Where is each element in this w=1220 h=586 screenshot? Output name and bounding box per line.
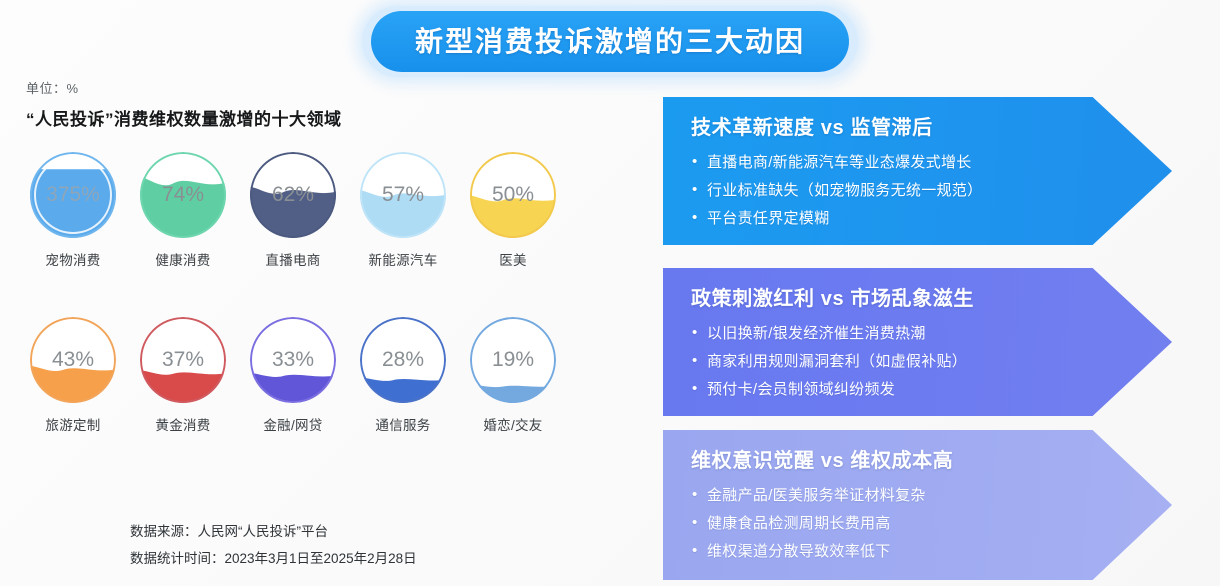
- gauge-value: 57%: [360, 152, 446, 238]
- gauge-value: 37%: [140, 317, 226, 403]
- gauge-label: 通信服务: [375, 414, 430, 434]
- gauge-label: 金融/网贷: [263, 414, 322, 434]
- driver-list: 金融产品/医美服务举证材料复杂健康食品检测周期长费用高维权渠道分散导致效率低下: [691, 482, 1172, 566]
- circle-row: 43%旅游定制37%黄金消费33%金融/网贷28%通信服务19%婚恋/交友: [18, 317, 598, 434]
- title-banner: 新型消费投诉激增的三大动因: [0, 6, 1220, 77]
- water-gauge: 33%: [250, 317, 336, 403]
- circle-cell-金融/网贷: 33%金融/网贷: [238, 317, 348, 434]
- source-note: 数据来源：人民网“人民投诉”平台 数据统计时间：2023年3月1日至2025年2…: [130, 518, 417, 572]
- gauge-label: 婚恋/交友: [483, 414, 542, 434]
- gauge-label: 新能源汽车: [369, 249, 438, 269]
- driver-bullet: 商家利用规则漏洞套利（如虚假补贴）: [691, 348, 1172, 376]
- gauge-label: 直播电商: [265, 249, 320, 269]
- driver-list: 直播电商/新能源汽车等业态爆发式增长行业标准缺失（如宠物服务无统一规范）平台责任…: [691, 149, 1172, 233]
- driver-arrow-1: 技术革新速度 vs 监管滞后直播电商/新能源汽车等业态爆发式增长行业标准缺失（如…: [663, 97, 1172, 245]
- gauge-label: 医美: [499, 249, 527, 269]
- driver-bullet: 以旧换新/银发经济催生消费热潮: [691, 320, 1172, 348]
- circle-chart: 375%宠物消费74%健康消费62%直播电商57%新能源汽车50%医美43%旅游…: [18, 152, 598, 434]
- gauge-value: 74%: [140, 152, 226, 238]
- gauge-value: 50%: [470, 152, 556, 238]
- driver-bullet: 健康食品检测周期长费用高: [691, 510, 1172, 538]
- circle-cell-直播电商: 62%直播电商: [238, 152, 348, 269]
- driver-bullet: 金融产品/医美服务举证材料复杂: [691, 482, 1172, 510]
- gauge-value: 19%: [470, 317, 556, 403]
- circle-cell-医美: 50%医美: [458, 152, 568, 269]
- left-section-heading: “人民投诉”消费维权数量激增的十大领域: [26, 105, 342, 130]
- water-gauge: 50%: [470, 152, 556, 238]
- gauge-label: 健康消费: [155, 249, 210, 269]
- driver-bullet: 直播电商/新能源汽车等业态爆发式增长: [691, 149, 1172, 177]
- gauge-label: 黄金消费: [155, 414, 210, 434]
- gauge-label: 旅游定制: [45, 414, 100, 434]
- page-title: 新型消费投诉激增的三大动因: [371, 11, 849, 72]
- gauge-value: 62%: [250, 152, 336, 238]
- circle-cell-婚恋/交友: 19%婚恋/交友: [458, 317, 568, 434]
- circle-cell-黄金消费: 37%黄金消费: [128, 317, 238, 434]
- water-gauge: 43%: [30, 317, 116, 403]
- water-gauge: 28%: [360, 317, 446, 403]
- source-line-2: 数据统计时间：2023年3月1日至2025年2月28日: [130, 545, 417, 572]
- driver-arrow-2: 政策刺激红利 vs 市场乱象滋生以旧换新/银发经济催生消费热潮商家利用规则漏洞套…: [663, 268, 1172, 416]
- source-line-1: 数据来源：人民网“人民投诉”平台: [130, 518, 417, 545]
- driver-bullet: 行业标准缺失（如宠物服务无统一规范）: [691, 177, 1172, 205]
- circle-cell-宠物消费: 375%宠物消费: [18, 152, 128, 269]
- circle-cell-通信服务: 28%通信服务: [348, 317, 458, 434]
- driver-arrow-3: 维权意识觉醒 vs 维权成本高金融产品/医美服务举证材料复杂健康食品检测周期长费…: [663, 430, 1172, 580]
- gauge-value: 375%: [30, 152, 116, 238]
- title-glow: 新型消费投诉激增的三大动因: [362, 6, 858, 77]
- gauge-value: 33%: [250, 317, 336, 403]
- water-gauge: 57%: [360, 152, 446, 238]
- water-gauge: 375%: [30, 152, 116, 238]
- water-gauge: 37%: [140, 317, 226, 403]
- driver-heading: 政策刺激红利 vs 市场乱象滋生: [691, 282, 1172, 311]
- driver-bullet: 维权渠道分散导致效率低下: [691, 538, 1172, 566]
- gauge-value: 43%: [30, 317, 116, 403]
- circle-cell-旅游定制: 43%旅游定制: [18, 317, 128, 434]
- water-gauge: 62%: [250, 152, 336, 238]
- circle-row: 375%宠物消费74%健康消费62%直播电商57%新能源汽车50%医美: [18, 152, 598, 269]
- unit-label: 单位：%: [26, 78, 79, 97]
- circle-cell-健康消费: 74%健康消费: [128, 152, 238, 269]
- driver-heading: 技术革新速度 vs 监管滞后: [691, 111, 1172, 140]
- driver-bullet: 预付卡/会员制领域纠纷频发: [691, 376, 1172, 404]
- infographic-root: 新型消费投诉激增的三大动因 单位：% “人民投诉”消费维权数量激增的十大领域 3…: [0, 0, 1220, 586]
- water-gauge: 19%: [470, 317, 556, 403]
- driver-bullet: 平台责任界定模糊: [691, 205, 1172, 233]
- driver-list: 以旧换新/银发经济催生消费热潮商家利用规则漏洞套利（如虚假补贴）预付卡/会员制领…: [691, 320, 1172, 404]
- circle-cell-新能源汽车: 57%新能源汽车: [348, 152, 458, 269]
- gauge-value: 28%: [360, 317, 446, 403]
- water-gauge: 74%: [140, 152, 226, 238]
- gauge-label: 宠物消费: [45, 249, 100, 269]
- driver-heading: 维权意识觉醒 vs 维权成本高: [691, 444, 1172, 473]
